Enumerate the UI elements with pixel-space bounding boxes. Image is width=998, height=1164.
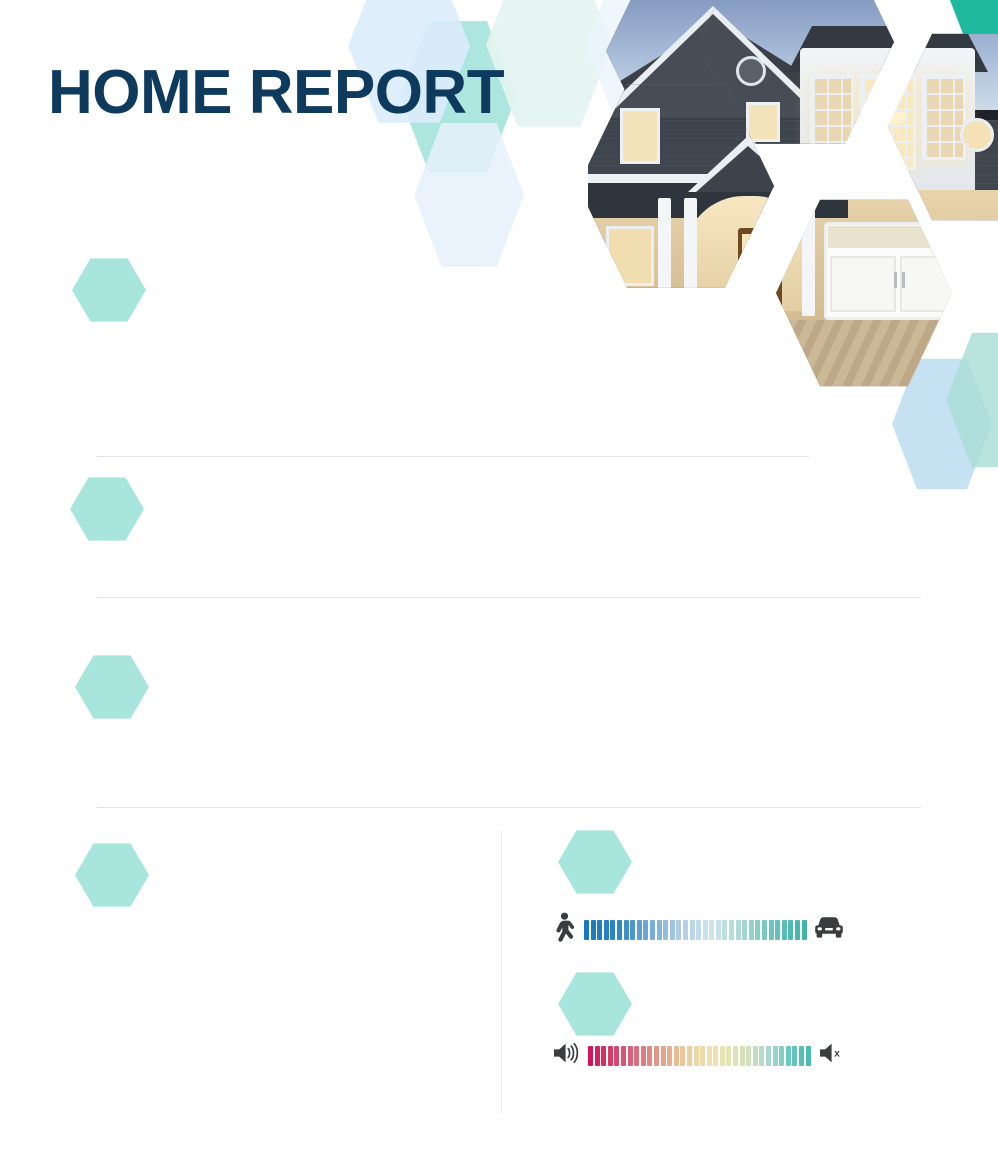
scale-tick [795,920,800,940]
scale-tick [766,1046,771,1066]
scale-tick [713,1046,718,1066]
section-bullet-4 [75,842,149,908]
scale-tick [670,920,675,940]
scale-tick [637,920,642,940]
scale-tick [694,1046,699,1066]
scale-tick [742,920,747,940]
scale-tick [802,920,807,940]
noise-level-scale[interactable]: x [551,1040,846,1071]
column-divider [501,831,502,1113]
house-photo-fragment [776,196,952,390]
scale-tick [729,920,734,940]
page-title: HOME REPORT [48,62,504,124]
scale-tick [700,1046,705,1066]
walkability-scale[interactable] [551,912,844,947]
scale-tick [595,1046,600,1066]
scale-tick [707,1046,712,1066]
scale-tick [634,1046,639,1066]
scale-tick [759,1046,764,1066]
scale-tick [647,1046,652,1066]
noise-score-bullet [558,971,632,1037]
scale-tick [762,920,767,940]
scale-tick [709,920,714,940]
scale-tick [792,1046,797,1066]
scale-tick [624,920,629,940]
scale-tick [720,1046,725,1066]
scale-tick [733,1046,738,1066]
scale-tick [753,1046,758,1066]
home-report-page: HOME REPORT [0,0,998,1164]
scale-tick [755,920,760,940]
scale-tick [610,920,615,940]
scale-tick [617,920,622,940]
noise-tick-scale[interactable] [588,1046,811,1066]
scale-tick [643,920,648,940]
svg-text:x: x [834,1048,840,1059]
scale-tick [608,1046,613,1066]
scale-tick [799,1046,804,1066]
scale-tick [667,1046,672,1066]
scale-tick [716,920,721,940]
scale-tick [641,1046,646,1066]
divider-3 [97,807,921,808]
scale-tick [630,920,635,940]
scale-tick [703,920,708,940]
section-bullet-1 [72,257,146,323]
scale-tick [614,1046,619,1066]
scale-tick [628,1046,633,1066]
scale-tick [601,1046,606,1066]
speaker-loud-icon [551,1040,581,1071]
pedestrian-icon [551,912,577,947]
walk-score-bullet [558,829,632,895]
scale-tick [722,920,727,940]
photo-tile-right-edge [888,30,998,224]
scale-tick [584,920,589,940]
scale-tick [769,920,774,940]
scale-tick [775,920,780,940]
scale-tick [690,920,695,940]
scale-tick [786,1046,791,1066]
divider-2 [97,597,921,598]
scale-tick [621,1046,626,1066]
scale-tick [661,1046,666,1066]
scale-tick [680,1046,685,1066]
section-bullet-2 [70,476,144,542]
scale-tick [740,1046,745,1066]
section-bullet-3 [75,654,149,720]
scale-tick [654,1046,659,1066]
walkability-tick-scale[interactable] [584,920,807,940]
scale-tick [597,920,602,940]
scale-tick [604,920,609,940]
scale-tick [588,1046,593,1066]
scale-tick [591,920,596,940]
house-photo-collage [588,0,998,420]
scale-tick [674,1046,679,1066]
scale-tick [773,1046,778,1066]
scale-tick [676,920,681,940]
scale-tick [749,920,754,940]
scale-tick [696,920,701,940]
scale-tick [782,920,787,940]
speaker-muted-icon: x [818,1040,846,1071]
scale-tick [806,1046,811,1066]
scale-tick [746,1046,751,1066]
house-photo-fragment [888,30,998,224]
scale-tick [726,1046,731,1066]
scale-tick [788,920,793,940]
scale-tick [650,920,655,940]
scale-tick [736,920,741,940]
car-icon [814,914,844,945]
scale-tick [687,1046,692,1066]
scale-tick [657,920,662,940]
scale-tick [663,920,668,940]
divider-1 [97,456,809,457]
scale-tick [683,920,688,940]
photo-tile-garage-door [776,196,952,390]
scale-tick [779,1046,784,1066]
